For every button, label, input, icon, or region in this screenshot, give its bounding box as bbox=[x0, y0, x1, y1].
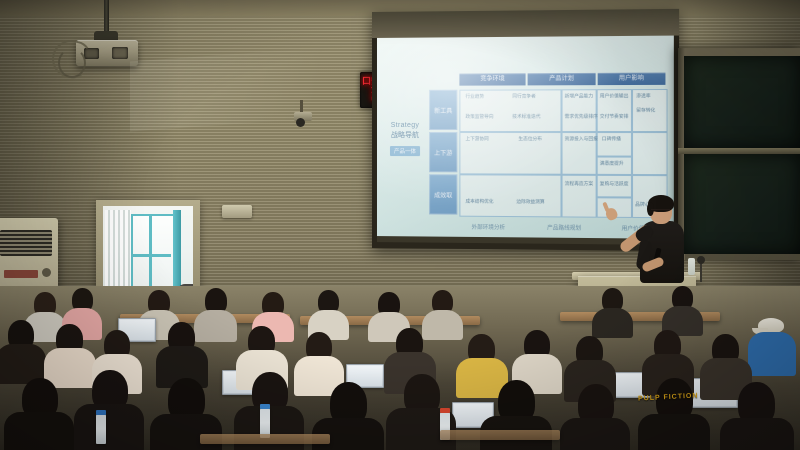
table-cell-text: 口碑传播 bbox=[602, 136, 621, 142]
slide-title-en: Strategy bbox=[382, 122, 428, 129]
table-header-row: 竞争环境 产品计划 用户影响 bbox=[459, 73, 665, 86]
window-mullion-horizontal bbox=[131, 254, 171, 257]
audience-body bbox=[150, 414, 222, 450]
table-cell-text: 留存转化 bbox=[636, 107, 655, 113]
table-cell-text: 需求优先级排序 bbox=[565, 114, 598, 120]
audience-body bbox=[720, 418, 794, 450]
presenter-glasses-icon bbox=[651, 209, 670, 214]
slide-caption: 外部环境分析 bbox=[472, 223, 506, 231]
screen-top-bar bbox=[372, 9, 679, 38]
table-cell bbox=[632, 132, 668, 175]
table-cell-text: 满意度提升 bbox=[600, 161, 624, 167]
table-row-label: 上下游 bbox=[429, 132, 457, 172]
bottle-cap-icon bbox=[440, 408, 450, 413]
table-row-label: 成效取 bbox=[429, 174, 457, 214]
table-cell-text: 边际效益测算 bbox=[516, 199, 544, 205]
blackboard-panel-lower bbox=[684, 154, 800, 254]
water-bottle bbox=[96, 414, 106, 444]
desk-row bbox=[440, 430, 560, 440]
table-cell-text: 用户价值输出 bbox=[600, 93, 629, 99]
bottle-cap-icon bbox=[96, 410, 106, 415]
slide-left-title: Strategy 战略导航 产品一体 bbox=[382, 122, 428, 158]
audience-body bbox=[638, 414, 710, 450]
table-header-cell: 产品计划 bbox=[528, 73, 595, 85]
audience-body bbox=[74, 404, 144, 450]
wall-speaker-icon bbox=[222, 205, 252, 218]
microphone-icon bbox=[697, 256, 705, 264]
table-header-cell: 用户影响 bbox=[597, 73, 665, 86]
table-cell-text: 生态位分布 bbox=[518, 136, 542, 142]
table-cell-text: 上下游协同 bbox=[465, 136, 488, 142]
audience-body bbox=[194, 310, 237, 342]
table-row-label: 新工具 bbox=[429, 90, 457, 130]
slide-caption: 产品路线规划 bbox=[547, 223, 581, 231]
table-cell-text: 流程再造方案 bbox=[565, 181, 593, 187]
projector-cable-coil bbox=[58, 48, 86, 78]
table-cell-text: 同行竞争者 bbox=[512, 93, 536, 99]
audience-area: PULP FICTION bbox=[0, 286, 800, 450]
table-cell-text: 成本结构优化 bbox=[465, 199, 493, 205]
table-cell-text: 复购与活跃度 bbox=[600, 181, 629, 187]
ac-vent-grille-icon bbox=[0, 230, 52, 256]
lecture-hall-scene: 安全出口 Strategy 战略导航 产品一体 竞争环境 产品计划 用户影响 bbox=[0, 0, 800, 450]
blackboard-panel-upper bbox=[684, 56, 800, 148]
slide-matrix-table: 竞争环境 产品计划 用户影响 新工具 上下游 成效取 bbox=[429, 73, 665, 217]
slide-title-cn: 战略导航 bbox=[382, 130, 428, 140]
audience-body bbox=[592, 308, 633, 338]
table-cell-text: 行业趋势 bbox=[465, 94, 484, 100]
projector-vent-icon bbox=[112, 47, 128, 59]
table-cell-text: 交付节奏安排 bbox=[600, 114, 629, 120]
slide-title-tag: 产品一体 bbox=[390, 146, 420, 156]
table-cell-text: 新增产品能力 bbox=[565, 93, 593, 99]
camera-lens-icon bbox=[296, 118, 305, 127]
microphone-stand bbox=[700, 262, 702, 282]
table-header-cell: 竞争环境 bbox=[459, 73, 526, 85]
desk-row bbox=[200, 434, 330, 444]
audience-body bbox=[748, 332, 796, 376]
presenter bbox=[628, 198, 698, 290]
projector-mount-rod bbox=[104, 0, 109, 34]
table-cell-text: 技术标准迭代 bbox=[512, 114, 540, 120]
audience-body bbox=[4, 412, 74, 450]
audience-body bbox=[422, 310, 463, 340]
bottle-cap-icon bbox=[260, 404, 270, 409]
table-cell bbox=[459, 174, 561, 217]
audience-body bbox=[560, 418, 630, 450]
ac-label-strip bbox=[4, 270, 38, 278]
ac-control-knob[interactable] bbox=[42, 268, 51, 277]
table-cell-text: 渗透率 bbox=[636, 93, 650, 99]
table-cell-text: 政策监管导向 bbox=[465, 114, 493, 120]
table-cell-text: 资源投入与回报 bbox=[565, 136, 598, 142]
